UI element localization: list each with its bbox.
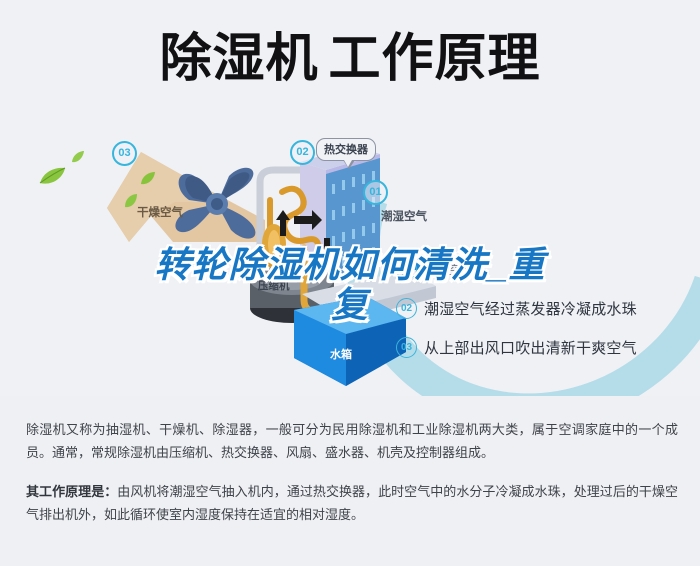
leaf-icon [71,150,85,164]
paragraph-principle-lead: 其工作原理是： [26,484,117,499]
page-title-part1: 除湿机 [159,30,318,88]
body-copy: 除湿机又称为抽湿机、干燥机、除湿器，一般可分为民用除湿机和工业除湿机两大类，属于… [26,418,678,526]
water-tank-illustration [288,296,408,386]
label-water-tank: 水箱 [330,346,352,362]
page-root: 除湿机工作原理 [0,0,700,566]
leaf-icon [124,193,138,209]
title-band: 除湿机工作原理 [0,0,700,120]
diagram-marker-01: 01 [363,180,388,205]
step-number: 01 [396,259,417,280]
step-number: 02 [396,298,417,319]
step-list: 01 潮湿空气 02 潮湿空气经过蒸发器冷凝成水珠 03 从上部出风口吹出清新干… [396,258,686,375]
paragraph-principle-rest: 由风机将潮湿空气抽入机内，通过热交换器，此时空气中的水分子冷凝成水珠，处理过后的… [26,484,678,522]
step-item-03: 03 从上部出风口吹出清新干爽空气 [396,336,686,358]
page-title: 除湿机工作原理 [0,28,700,90]
label-compressor: 压缩机 [258,278,290,293]
label-dry-air: 干燥空气 [137,204,183,220]
label-humid-air: 潮湿空气 [381,208,427,224]
step-text: 潮湿空气经过蒸发器冷凝成水珠 [424,298,637,319]
leaf-icon [140,171,156,186]
step-text: 从上部出风口吹出清新干爽空气 [424,337,637,358]
page-title-part2: 工作原理 [329,30,541,88]
step-item-02: 02 潮湿空气经过蒸发器冷凝成水珠 [396,297,686,319]
step-text: 潮湿空气 [424,261,473,278]
diagram-marker-02: 02 [290,140,315,165]
step-item-01: 01 潮湿空气 [396,258,686,280]
leaf-icon [38,166,66,186]
diagram-marker-03: 03 [112,141,137,166]
step-number: 03 [396,337,417,358]
paragraph-principle: 其工作原理是：由风机将潮湿空气抽入机内，通过热交换器，此时空气中的水分子冷凝成水… [26,480,678,526]
callout-heat-exchanger: 热交换器 [316,138,376,161]
paragraph-definition: 除湿机又称为抽湿机、干燥机、除湿器，一般可分为民用除湿机和工业除湿机两大类，属于… [26,418,678,464]
